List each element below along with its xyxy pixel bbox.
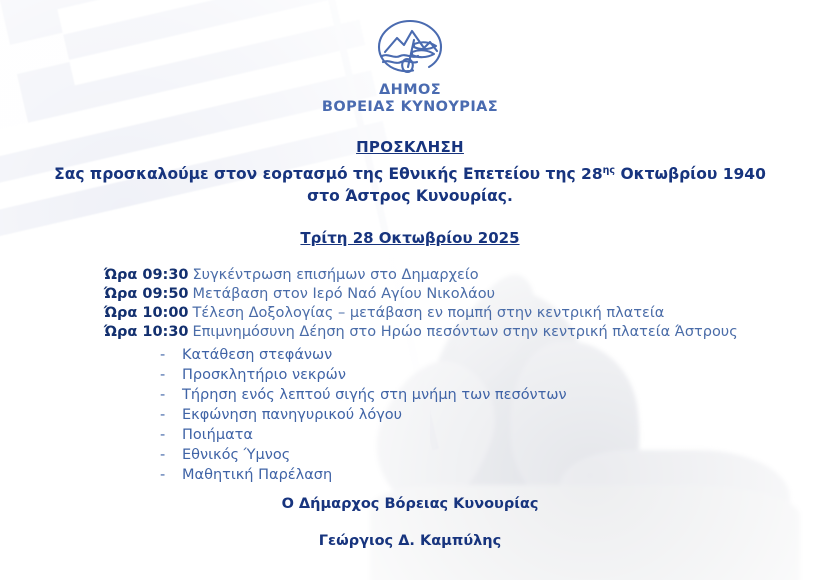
bullet-dash-icon: - bbox=[160, 425, 182, 445]
list-item-label: Εθνικός Ύμνος bbox=[182, 447, 290, 463]
organization-name: ΔΗΜΟΣ ΒΟΡΕΙΑΣ ΚΥΝΟΥΡΙΑΣ bbox=[0, 82, 820, 115]
signature-name: Γεώργιος Δ. Καμπύλης bbox=[0, 533, 820, 549]
list-item-label: Ποιήματα bbox=[182, 427, 253, 443]
schedule-list: Ώρα 09:30Συγκέντρωση επισήμων στο Δημαρχ… bbox=[104, 266, 804, 342]
list-item-label: Προσκλητήριο νεκρών bbox=[182, 367, 346, 383]
list-item-label: Μαθητική Παρέλαση bbox=[182, 467, 332, 483]
list-item: -Εθνικός Ύμνος bbox=[160, 445, 760, 465]
schedule-row: Ώρα 10:30Επιμνημόσυνη Δέηση στο Ηρώο πεσ… bbox=[104, 323, 804, 342]
schedule-time: Ώρα 10:00 bbox=[104, 305, 189, 321]
invitation-line-2: στο Άστρος Κυνουρίας. bbox=[0, 187, 820, 205]
invitation-block: ΠΡΟΣΚΛΗΣΗ Σας προσκαλούμε στον εορτασμό … bbox=[0, 138, 820, 205]
invitation-line-1-text-before: Σας προσκαλούμε στον εορτασμό της Εθνική… bbox=[54, 165, 603, 183]
list-item: -Προσκλητήριο νεκρών bbox=[160, 365, 760, 385]
list-item: -Μαθητική Παρέλαση bbox=[160, 465, 760, 485]
schedule-description: Επιμνημόσυνη Δέηση στο Ηρώο πεσόντων στη… bbox=[193, 324, 738, 340]
list-item: -Ποιήματα bbox=[160, 425, 760, 445]
invitation-line-1-text-after: Οκτωβρίου 1940 bbox=[615, 165, 766, 183]
schedule-row: Ώρα 09:50Μετάβαση στον Ιερό Ναό Αγίου Νι… bbox=[104, 285, 804, 304]
list-item: -Εκφώνηση πανηγυρικού λόγου bbox=[160, 405, 760, 425]
invitation-page: ΔΗΜΟΣ ΒΟΡΕΙΑΣ ΚΥΝΟΥΡΙΑΣ ΠΡΟΣΚΛΗΣΗ Σας πρ… bbox=[0, 0, 820, 580]
schedule-time: Ώρα 09:30 bbox=[104, 267, 189, 283]
bullet-dash-icon: - bbox=[160, 445, 182, 465]
list-item-label: Τήρηση ενός λεπτού σιγής στη μνήμη των π… bbox=[182, 387, 567, 403]
bullet-dash-icon: - bbox=[160, 405, 182, 425]
municipality-logo-icon bbox=[367, 18, 453, 76]
bullet-dash-icon: - bbox=[160, 465, 182, 485]
bullet-dash-icon: - bbox=[160, 365, 182, 385]
list-item: -Τήρηση ενός λεπτού σιγής στη μνήμη των … bbox=[160, 385, 760, 405]
list-item-label: Εκφώνηση πανηγυρικού λόγου bbox=[182, 407, 402, 423]
event-date: Τρίτη 28 Οκτωβρίου 2025 bbox=[0, 229, 820, 247]
invitation-ordinal-suffix: ης bbox=[603, 165, 615, 176]
bullet-dash-icon: - bbox=[160, 385, 182, 405]
schedule-row: Ώρα 09:30Συγκέντρωση επισήμων στο Δημαρχ… bbox=[104, 266, 804, 285]
invitation-title: ΠΡΟΣΚΛΗΣΗ bbox=[0, 138, 820, 156]
list-item: -Κατάθεση στεφάνων bbox=[160, 345, 760, 365]
schedule-row: Ώρα 10:00Τέλεση Δοξολογίας – μετάβαση εν… bbox=[104, 304, 804, 323]
org-line-1: ΔΗΜΟΣ bbox=[0, 82, 820, 99]
document-header: ΔΗΜΟΣ ΒΟΡΕΙΑΣ ΚΥΝΟΥΡΙΑΣ bbox=[0, 18, 820, 115]
org-line-2: ΒΟΡΕΙΑΣ ΚΥΝΟΥΡΙΑΣ bbox=[0, 99, 820, 116]
schedule-time: Ώρα 10:30 bbox=[104, 324, 189, 340]
invitation-line-1: Σας προσκαλούμε στον εορτασμό της Εθνική… bbox=[0, 165, 820, 183]
schedule-description: Μετάβαση στον Ιερό Ναό Αγίου Νικολάου bbox=[193, 286, 495, 302]
signature-block: Ο Δήμαρχος Βόρειας Κυνουρίας Γεώργιος Δ.… bbox=[0, 496, 820, 549]
schedule-time: Ώρα 09:50 bbox=[104, 286, 189, 302]
signature-role: Ο Δήμαρχος Βόρειας Κυνουρίας bbox=[0, 496, 820, 512]
schedule-description: Τέλεση Δοξολογίας – μετάβαση εν πομπή στ… bbox=[193, 305, 665, 321]
list-item-label: Κατάθεση στεφάνων bbox=[182, 347, 332, 363]
bullet-dash-icon: - bbox=[160, 345, 182, 365]
schedule-description: Συγκέντρωση επισήμων στο Δημαρχείο bbox=[193, 267, 479, 283]
ceremony-items-list: -Κατάθεση στεφάνων -Προσκλητήριο νεκρών … bbox=[160, 345, 760, 485]
